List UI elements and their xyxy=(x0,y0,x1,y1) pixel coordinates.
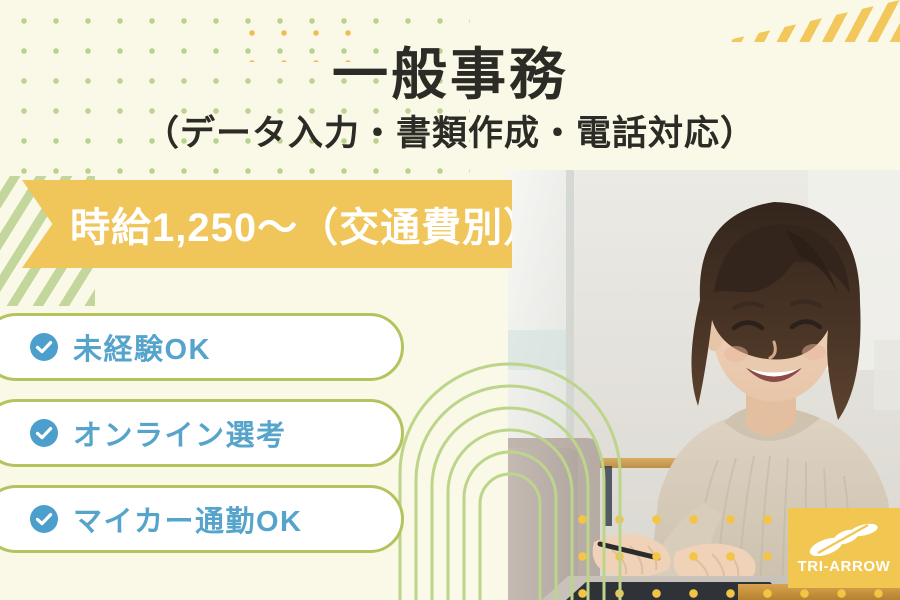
feature-pill-2-label: オンライン選考 xyxy=(73,412,287,454)
page-title: 一般事務 xyxy=(0,44,900,106)
job-ad-banner: 一般事務 （データ入力・書類作成・電話対応） 時給1,250〜（交通費別） 未経… xyxy=(0,0,900,600)
company-logo-text: TRI-ARROW xyxy=(798,558,891,575)
gold-diagonal-stripes-decoration xyxy=(720,0,900,42)
three-ellipse-arrow-icon xyxy=(808,522,880,556)
feature-pill-3-label: マイカー通勤OK xyxy=(73,498,303,540)
wage-ribbon-label: 時給1,250〜（交通費別） xyxy=(70,195,544,253)
headline-block: 一般事務 （データ入力・書類作成・電話対応） xyxy=(0,44,900,155)
feature-pill-1: 未経験OK xyxy=(0,313,404,381)
feature-pill-1-label: 未経験OK xyxy=(73,326,211,368)
check-circle-icon xyxy=(29,418,59,448)
gold-dot-grid-decoration xyxy=(228,12,358,62)
page-subtitle: （データ入力・書類作成・電話対応） xyxy=(0,112,900,156)
wage-ribbon: 時給1,250〜（交通費別） xyxy=(22,180,512,268)
check-circle-icon xyxy=(29,504,59,534)
feature-pill-3: マイカー通勤OK xyxy=(0,485,404,553)
check-circle-icon xyxy=(29,332,59,362)
feature-pill-2: オンライン選考 xyxy=(0,399,404,467)
green-dot-grid-decoration xyxy=(0,0,470,200)
company-logo: TRI-ARROW xyxy=(788,508,900,588)
